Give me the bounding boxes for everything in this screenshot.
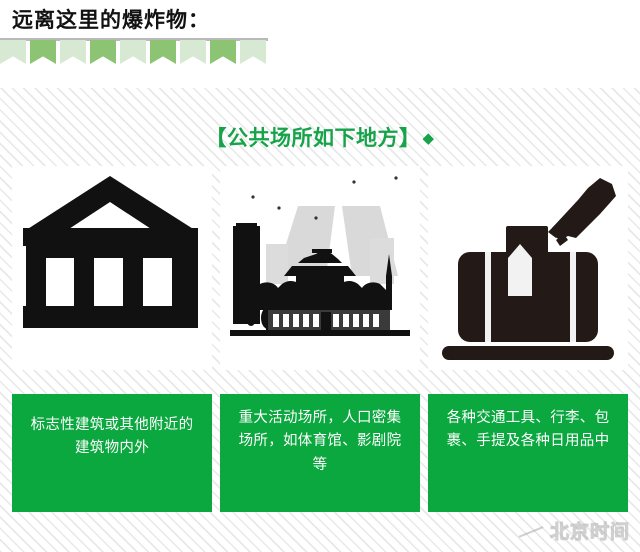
bunting-flag [120, 40, 146, 64]
card-caption: 标志性建筑或其他附近的建筑物内外 [12, 394, 212, 512]
bunting-flag [60, 40, 86, 64]
card-skyline: 重大活动场所，人口密集场所，如体育馆、影剧院等 [220, 166, 420, 516]
bunting-flag [30, 40, 56, 64]
card-row: 标志性建筑或其他附近的建筑物内外 [12, 166, 628, 516]
card-landmark: 标志性建筑或其他附近的建筑物内外 [12, 166, 212, 516]
watermark: 北京时间 [550, 517, 630, 544]
section-heading: 【公共场所如下地方】◆ [0, 122, 640, 152]
bunting-flag [0, 40, 26, 64]
luggage-inspection-icon [428, 166, 628, 370]
section-heading-text: 【公共场所如下地方】 [205, 126, 420, 150]
header-bar: 远离这里的爆炸物： [0, 0, 640, 38]
card-caption: 各种交通工具、行李、包裹、手提及各种日用品中 [428, 394, 628, 512]
bunting-banner [0, 38, 268, 66]
city-skyline-icon [220, 166, 420, 370]
bunting-flag [150, 40, 176, 64]
classical-building-icon [12, 166, 212, 370]
card-figure [220, 166, 420, 370]
card-caption: 重大活动场所，人口密集场所，如体育馆、影剧院等 [220, 394, 420, 512]
page-title: 远离这里的爆炸物： [0, 4, 210, 34]
poster-page: 远离这里的爆炸物： 【公共场所如下地方】◆ [0, 0, 640, 552]
bunting-flags [0, 40, 266, 64]
diamond-icon: ◆ [422, 129, 434, 147]
bunting-flag [90, 40, 116, 64]
card-luggage: 各种交通工具、行李、包裹、手提及各种日用品中 [428, 166, 628, 516]
bunting-flag [240, 40, 266, 64]
bunting-flag [180, 40, 206, 64]
bunting-flag [210, 40, 236, 64]
card-figure [12, 166, 212, 370]
card-figure [428, 166, 628, 370]
